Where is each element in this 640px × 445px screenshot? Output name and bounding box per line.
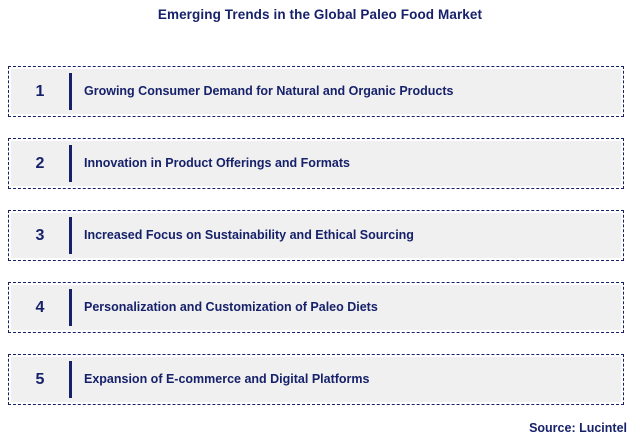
vertical-divider-icon — [69, 289, 72, 326]
trend-row: 2 Innovation in Product Offerings and Fo… — [8, 138, 624, 189]
trend-label: Personalization and Customization of Pal… — [84, 300, 621, 314]
trend-list: 1 Growing Consumer Demand for Natural an… — [8, 66, 624, 405]
trend-label: Increased Focus on Sustainability and Et… — [84, 228, 621, 242]
page-title: Emerging Trends in the Global Paleo Food… — [0, 7, 640, 22]
trend-label: Growing Consumer Demand for Natural and … — [84, 84, 621, 98]
trend-number: 3 — [11, 228, 69, 244]
trend-row: 1 Growing Consumer Demand for Natural an… — [8, 66, 624, 117]
vertical-divider-icon — [69, 145, 72, 182]
trend-row-content: 4 Personalization and Customization of P… — [11, 285, 621, 330]
trend-row-content: 5 Expansion of E-commerce and Digital Pl… — [11, 357, 621, 402]
trend-number: 4 — [11, 300, 69, 316]
trend-row: 5 Expansion of E-commerce and Digital Pl… — [8, 354, 624, 405]
trend-label: Expansion of E-commerce and Digital Plat… — [84, 372, 621, 386]
trend-number: 2 — [11, 156, 69, 172]
trend-number: 5 — [11, 372, 69, 388]
trend-row: 4 Personalization and Customization of P… — [8, 282, 624, 333]
source-attribution: Source: Lucintel — [529, 421, 627, 435]
vertical-divider-icon — [69, 361, 72, 398]
trend-label: Innovation in Product Offerings and Form… — [84, 156, 621, 170]
infographic-root: Emerging Trends in the Global Paleo Food… — [0, 0, 640, 445]
vertical-divider-icon — [69, 73, 72, 110]
vertical-divider-icon — [69, 217, 72, 254]
trend-row: 3 Increased Focus on Sustainability and … — [8, 210, 624, 261]
trend-row-content: 2 Innovation in Product Offerings and Fo… — [11, 141, 621, 186]
trend-row-content: 1 Growing Consumer Demand for Natural an… — [11, 69, 621, 114]
trend-row-content: 3 Increased Focus on Sustainability and … — [11, 213, 621, 258]
trend-number: 1 — [11, 84, 69, 100]
